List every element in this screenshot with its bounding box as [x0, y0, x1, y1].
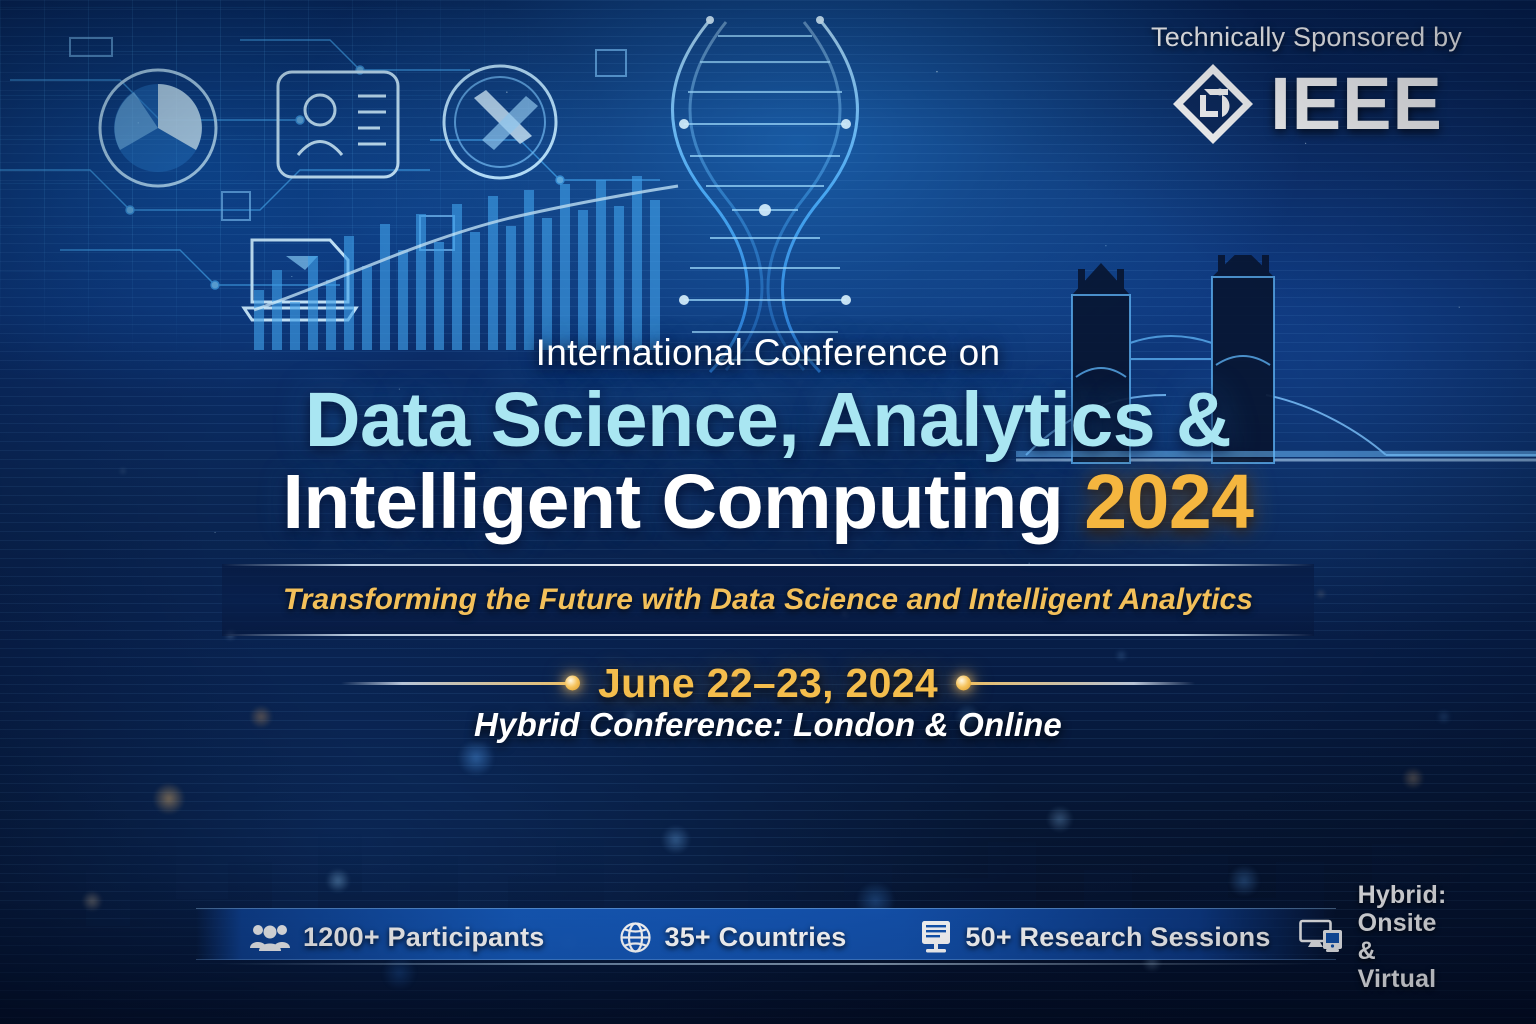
pretitle: International Conference on	[0, 332, 1536, 374]
date-dot-right	[956, 676, 971, 691]
tagline-band: Transforming the Future with Data Scienc…	[222, 564, 1314, 636]
title-line-2-text: Intelligent Computing	[283, 459, 1064, 545]
conference-banner: Technically Sponsored by IEEE Internatio…	[0, 0, 1536, 1024]
date-row: June 22–23, 2024	[0, 655, 1536, 711]
title-block: International Conference on Data Science…	[0, 332, 1536, 542]
stat-participants-label: 1200+ Participants	[303, 922, 545, 953]
ieee-wordmark: IEEE	[1270, 69, 1443, 139]
globe-icon	[619, 921, 652, 954]
ieee-logo: IEEE	[1151, 61, 1462, 147]
stat-sessions-label: 50+ Research Sessions	[965, 922, 1270, 953]
presentation-screen-icon	[920, 920, 952, 954]
devices-monitor-icon	[1299, 919, 1345, 955]
date-divider-left	[341, 682, 576, 685]
stat-hybrid-line-2: Onsite & Virtual	[1358, 909, 1437, 994]
stat-sessions: 50+ Research Sessions	[920, 920, 1270, 954]
sponsor-block: Technically Sponsored by IEEE	[1151, 22, 1462, 147]
bar-chart-icon	[250, 170, 680, 350]
conference-year: 2024	[1084, 459, 1253, 545]
ieee-diamond-logo-icon	[1170, 61, 1256, 147]
people-group-icon	[250, 922, 290, 952]
stat-hybrid-label: Hybrid: Onsite & Virtual	[1358, 881, 1447, 994]
id-card-user-icon	[278, 72, 398, 177]
tagline: Transforming the Future with Data Scienc…	[283, 583, 1253, 617]
date-divider-right	[960, 682, 1195, 685]
date-dot-left	[565, 676, 580, 691]
stat-countries: 35+ Countries	[619, 921, 847, 954]
pie-chart-icon	[100, 70, 216, 186]
stat-hybrid-line-1: Hybrid:	[1358, 881, 1447, 909]
stat-hybrid: Hybrid: Onsite & Virtual	[1299, 881, 1447, 994]
conference-venue: Hybrid Conference: London & Online	[0, 706, 1536, 744]
title-line-1: Data Science, Analytics &	[0, 380, 1536, 460]
stats-row: 1200+ Participants 35+ Countries	[196, 898, 1446, 976]
title-line-2: Intelligent Computing 2024	[0, 462, 1536, 542]
sponsor-label: Technically Sponsored by	[1151, 22, 1462, 53]
tools-gear-icon	[444, 66, 556, 178]
stat-participants: 1200+ Participants	[250, 922, 545, 953]
conference-date: June 22–23, 2024	[598, 660, 938, 707]
stat-countries-label: 35+ Countries	[665, 922, 847, 953]
